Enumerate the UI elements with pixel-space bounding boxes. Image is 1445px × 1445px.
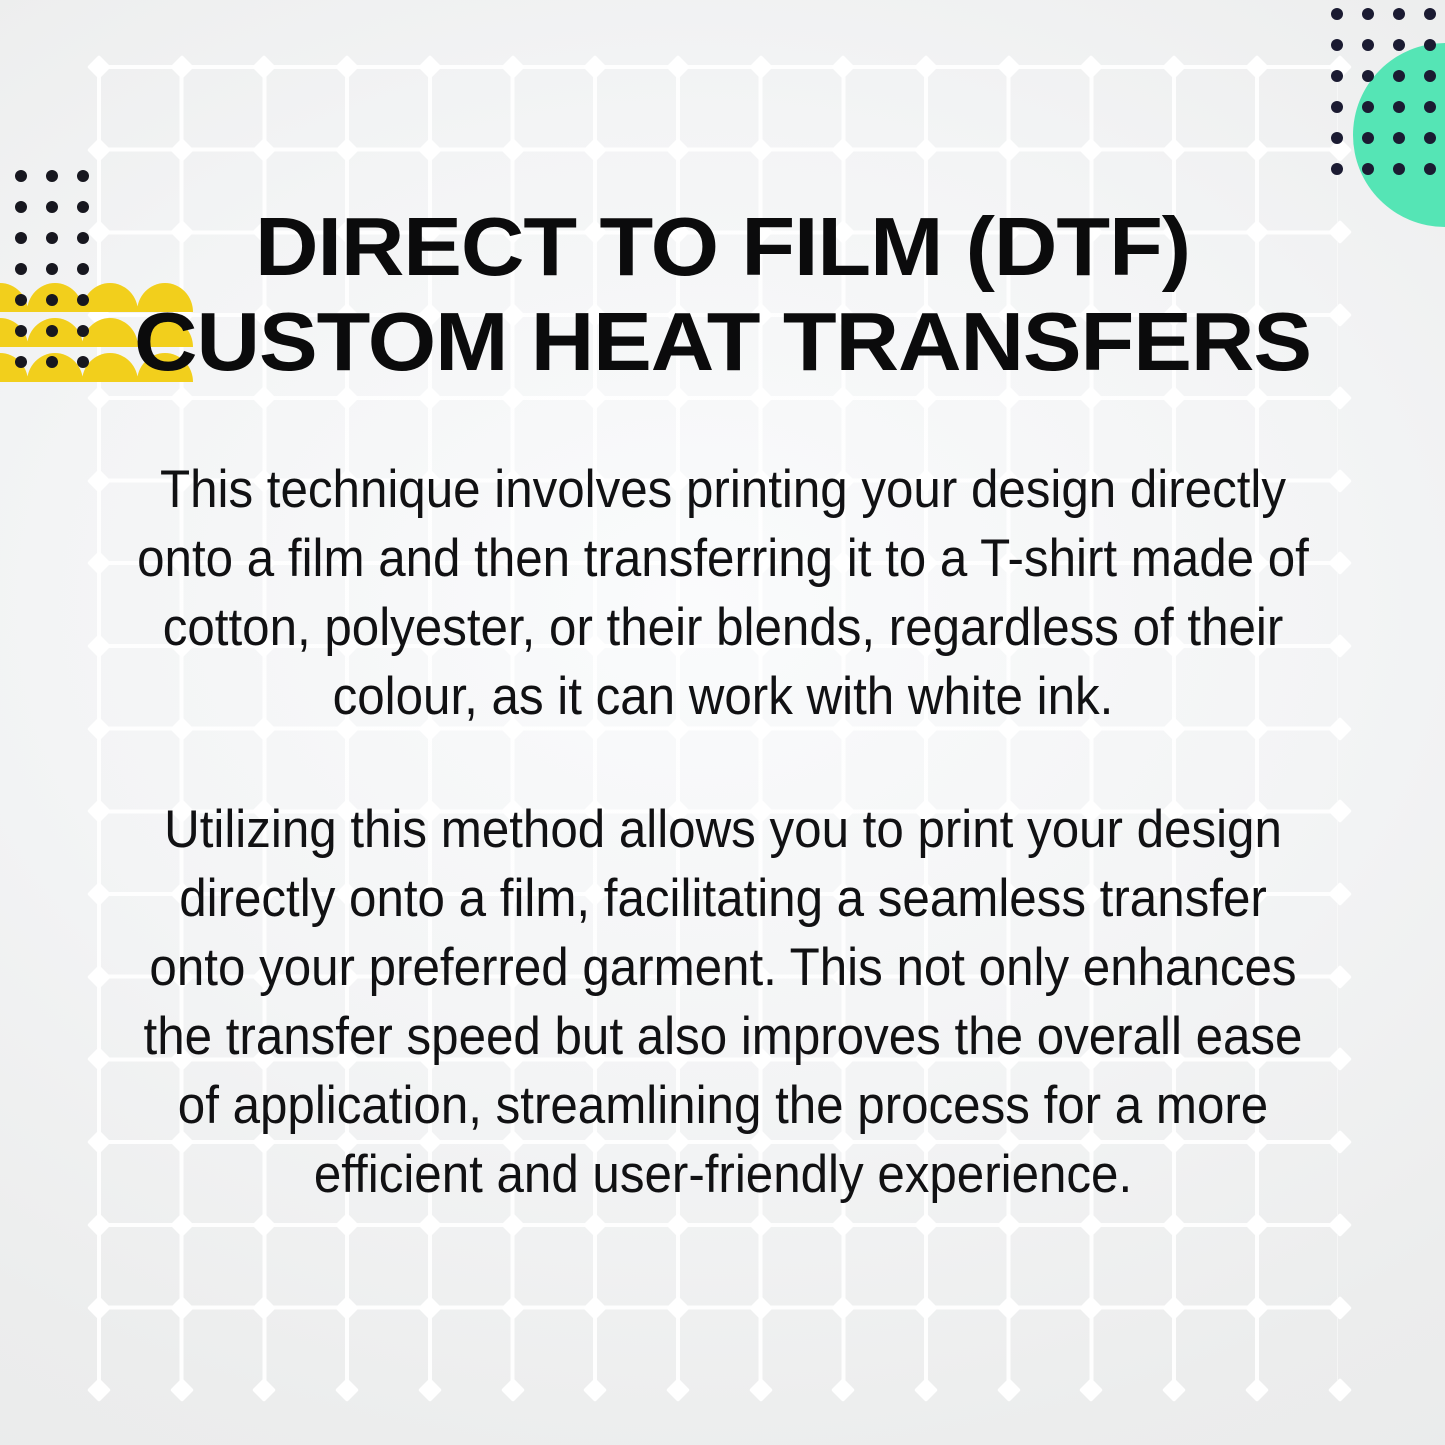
paragraph-1-text: This technique involves printing your de… [136,455,1310,731]
poster-content: DIRECT TO FILM (DTF) CUSTOM HEAT TRANSFE… [0,0,1445,1445]
headline-line-2: CUSTOM HEAT TRANSFERS [0,294,1445,389]
headline-line-1: DIRECT TO FILM (DTF) [0,199,1445,294]
page-title: DIRECT TO FILM (DTF) CUSTOM HEAT TRANSFE… [0,199,1445,389]
body-paragraph-2: Utilizing this method allows you to prin… [136,795,1310,1209]
body-paragraph-1: This technique involves printing your de… [136,455,1310,731]
paragraph-2-text: Utilizing this method allows you to prin… [136,795,1310,1209]
poster-canvas: DIRECT TO FILM (DTF) CUSTOM HEAT TRANSFE… [0,0,1445,1445]
